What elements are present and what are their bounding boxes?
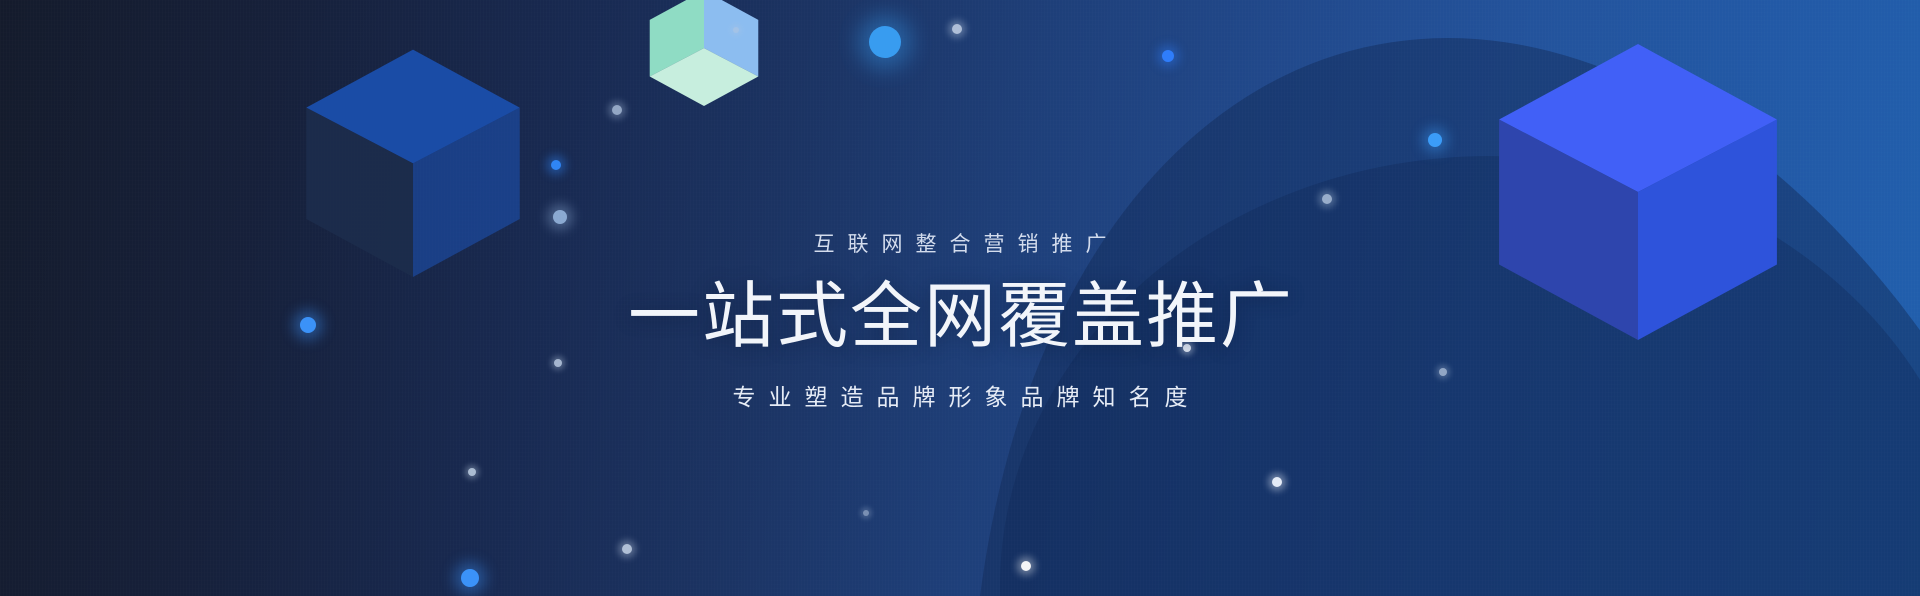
particle-10 (551, 160, 561, 170)
particle-11 (553, 210, 567, 224)
particle-15 (461, 569, 479, 587)
cube-mint-top (645, 0, 763, 106)
particle-5 (1322, 194, 1332, 204)
particle-14 (468, 468, 476, 476)
particle-4 (1428, 133, 1442, 147)
hero-subline: 专业塑造品牌形象品牌知名度 (0, 378, 1920, 412)
particle-17 (1021, 561, 1031, 571)
particle-16 (622, 544, 632, 554)
particle-9 (612, 105, 622, 115)
particle-2 (952, 24, 962, 34)
hero-banner: 互联网整合营销推广 一站式全网覆盖推广 专业塑造品牌形象品牌知名度 (0, 0, 1920, 596)
particle-18 (863, 510, 869, 516)
hero-headline: 一站式全网覆盖推广 (0, 274, 1920, 360)
particle-7 (1439, 368, 1447, 376)
hero-eyebrow: 互联网整合营销推广 (0, 228, 1920, 258)
particle-13 (554, 359, 562, 367)
particle-8 (1272, 477, 1282, 487)
particle-1 (869, 26, 901, 58)
particle-3 (1162, 50, 1174, 62)
